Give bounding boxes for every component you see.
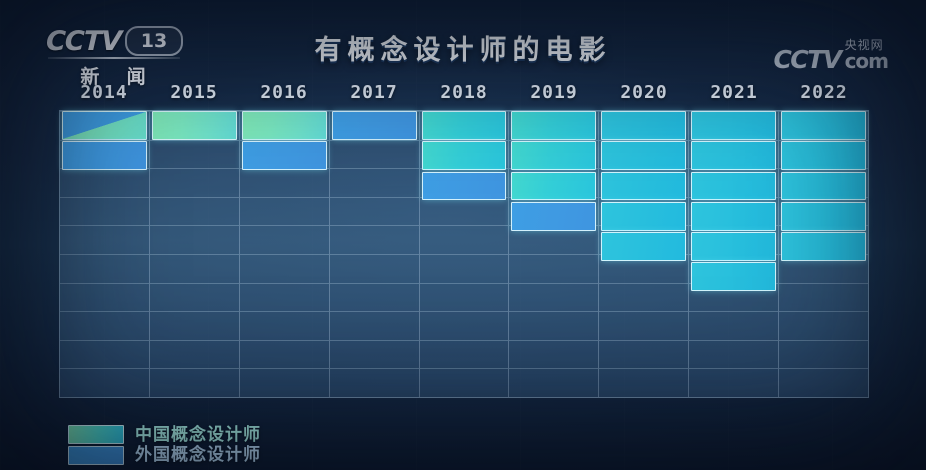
grid-cell: [779, 311, 868, 340]
chart-column-2015: [150, 111, 240, 397]
x-axis-year-labels: 2014 2015 2016 2017 2018 2019 2020 2021 …: [59, 82, 869, 106]
year-label-2021: 2021: [689, 82, 779, 106]
grid-cell: [689, 168, 778, 197]
grid-cell: [779, 168, 868, 197]
grid-cell: [150, 197, 239, 226]
grid-cell: [509, 311, 598, 340]
grid-cell: [779, 254, 868, 283]
chart-column-2021: [689, 111, 779, 397]
legend-label-chinese: 中国概念设计师: [135, 425, 261, 445]
grid-cell: [599, 311, 688, 340]
grid-cell: [689, 283, 778, 312]
grid-cell: [420, 254, 509, 283]
grid-cell: [509, 225, 598, 254]
grid-cell: [150, 311, 239, 340]
year-label-2014: 2014: [59, 82, 149, 106]
grid-cell: [509, 140, 598, 169]
grid-cell: [420, 197, 509, 226]
watermark-brand: CCTV: [773, 47, 840, 72]
grid-cell: [420, 283, 509, 312]
chart-column-2014: [60, 111, 150, 397]
grid-cell: [599, 225, 688, 254]
broadcast-graphic: CCTV 13 新 闻 有概念设计师的电影 CCTV 央视网 com 2014 …: [0, 0, 926, 470]
grid-cell: [240, 140, 329, 169]
grid-cell: [779, 340, 868, 369]
year-label-2017: 2017: [329, 82, 419, 106]
legend-swatch-foreign: [68, 446, 124, 465]
grid-cell: [330, 111, 419, 140]
grid-cell: [330, 254, 419, 283]
grid-cell: [689, 254, 778, 283]
grid-cell: [60, 311, 149, 340]
grid-cell: [509, 168, 598, 197]
grid-cell: [689, 311, 778, 340]
grid-cell: [689, 111, 778, 140]
grid-cell: [150, 368, 239, 397]
chart-column-2020: [599, 111, 689, 397]
grid-cell: [240, 311, 329, 340]
grid-cell: [240, 368, 329, 397]
grid-cell: [60, 111, 149, 140]
year-label-2018: 2018: [419, 82, 509, 106]
year-label-2016: 2016: [239, 82, 329, 106]
grid-cell: [420, 111, 509, 140]
grid-cell: [420, 368, 509, 397]
grid-cell: [60, 225, 149, 254]
chart-column-2022: [779, 111, 868, 397]
grid-cell: [330, 225, 419, 254]
grid-cell: [689, 340, 778, 369]
legend-swatch-chinese: [68, 425, 124, 444]
grid-cell: [150, 225, 239, 254]
grid-cell: [689, 225, 778, 254]
grid-cell: [420, 340, 509, 369]
chart-legend: 中国概念设计师 外国概念设计师: [68, 425, 261, 465]
chart-column-2019: [509, 111, 599, 397]
grid-cell: [240, 225, 329, 254]
grid-cell: [60, 340, 149, 369]
grid-cell: [330, 283, 419, 312]
grid-cell: [240, 168, 329, 197]
grid-cell: [330, 197, 419, 226]
grid-cell: [240, 340, 329, 369]
grid-cell: [509, 340, 598, 369]
grid-cell: [689, 368, 778, 397]
grid-cell: [509, 197, 598, 226]
grid-cell: [599, 140, 688, 169]
grid-cell: [689, 140, 778, 169]
grid-cell: [779, 225, 868, 254]
grid-cell: [150, 168, 239, 197]
year-label-2015: 2015: [149, 82, 239, 106]
grid-cell: [150, 283, 239, 312]
grid-cell: [509, 111, 598, 140]
grid-cell: [599, 368, 688, 397]
grid-cell: [599, 340, 688, 369]
watermark-domain: com: [845, 51, 888, 71]
grid-cell: [599, 168, 688, 197]
grid-cell: [240, 283, 329, 312]
year-label-2022: 2022: [779, 82, 869, 106]
watermark-stack: 央视网 com: [845, 39, 888, 72]
legend-swatches: [68, 425, 124, 465]
grid-cell: [330, 168, 419, 197]
cctv-com-watermark: CCTV 央视网 com: [773, 32, 888, 72]
grid-cell: [60, 368, 149, 397]
grid-cell: [420, 168, 509, 197]
grid-cell: [150, 140, 239, 169]
grid-cell: [330, 140, 419, 169]
grid-cell: [150, 111, 239, 140]
grid-cell: [689, 197, 778, 226]
chart-column-2016: [240, 111, 330, 397]
grid-cell: [779, 283, 868, 312]
grid-cell: [509, 254, 598, 283]
chart-grid: [59, 110, 869, 398]
grid-cell: [60, 140, 149, 169]
chart-column-2017: [330, 111, 420, 397]
grid-cell: [599, 197, 688, 226]
year-label-2020: 2020: [599, 82, 689, 106]
grid-cell: [240, 197, 329, 226]
grid-cell: [420, 225, 509, 254]
grid-cell: [150, 340, 239, 369]
grid-cell: [60, 283, 149, 312]
grid-cell: [150, 254, 239, 283]
grid-cell: [330, 368, 419, 397]
grid-cell: [509, 283, 598, 312]
grid-cell: [779, 140, 868, 169]
grid-cell: [60, 168, 149, 197]
legend-label-group: 中国概念设计师 外国概念设计师: [135, 425, 261, 465]
grid-cell: [240, 254, 329, 283]
legend-label-foreign: 外国概念设计师: [135, 445, 261, 465]
grid-cell: [599, 111, 688, 140]
grid-cell: [779, 197, 868, 226]
grid-cell: [330, 340, 419, 369]
grid-cell: [599, 254, 688, 283]
chart-column-2018: [420, 111, 510, 397]
grid-cell: [779, 368, 868, 397]
grid-cell: [420, 140, 509, 169]
grid-cell: [420, 311, 509, 340]
grid-cell: [599, 283, 688, 312]
grid-cell: [60, 197, 149, 226]
grid-cell: [509, 368, 598, 397]
grid-cell: [60, 254, 149, 283]
grid-cell: [779, 111, 868, 140]
year-label-2019: 2019: [509, 82, 599, 106]
grid-cell: [240, 111, 329, 140]
grid-cell: [330, 311, 419, 340]
